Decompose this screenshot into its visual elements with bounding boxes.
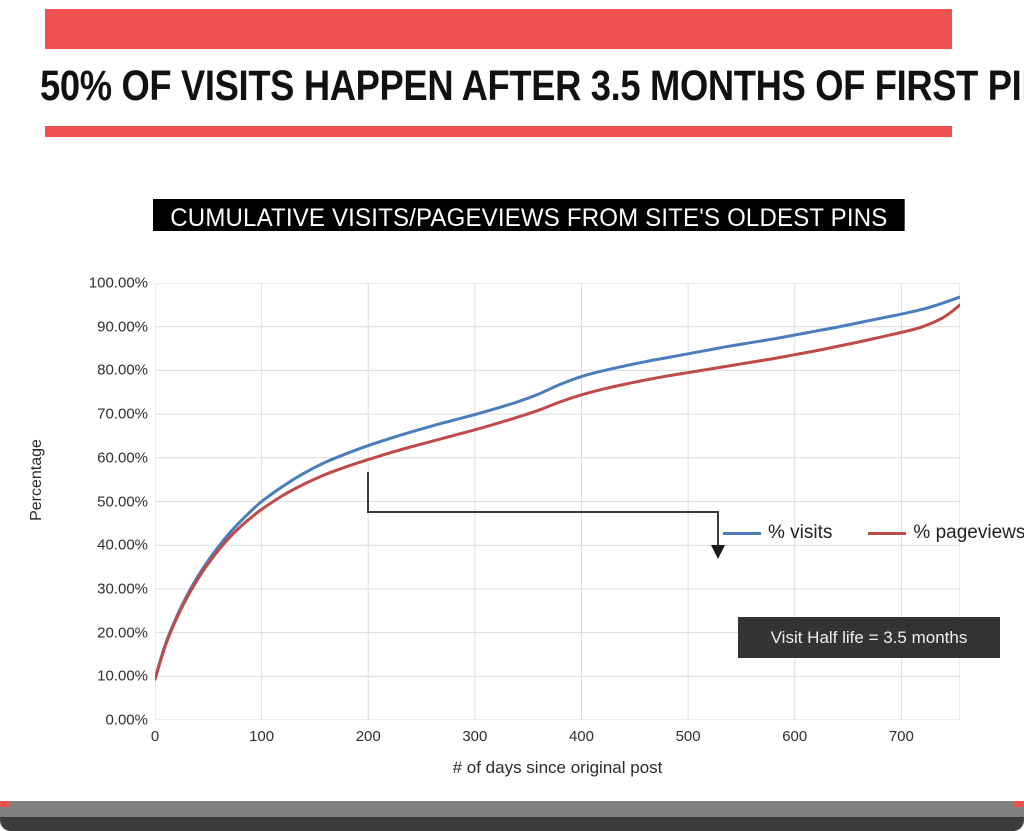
page-corner-accent-right <box>1014 801 1024 807</box>
x-tick-label: 300 <box>462 728 487 745</box>
y-tick-label: 20.00% <box>62 624 148 641</box>
x-tick-label: 400 <box>569 728 594 745</box>
legend-label-visits: % visits <box>768 522 832 544</box>
legend-label-pageviews: % pageviews <box>913 522 1024 544</box>
chart-legend: % visits % pageviews <box>723 522 1024 544</box>
annotation-callout: Visit Half life = 3.5 months <box>738 617 1000 658</box>
page-bottom-shadow <box>0 817 1024 831</box>
y-tick-label: 60.00% <box>62 449 148 466</box>
x-tick-label: 200 <box>356 728 381 745</box>
y-axis-tick-labels: 0.00%10.00%20.00%30.00%40.00%50.00%60.00… <box>60 283 148 720</box>
x-tick-label: 700 <box>889 728 914 745</box>
y-axis-title: Percentage <box>28 410 46 550</box>
slide-canvas: 50% OF VISITS HAPPEN AFTER 3.5 MONTHS OF… <box>0 0 1024 831</box>
page-headline: 50% OF VISITS HAPPEN AFTER 3.5 MONTHS OF… <box>40 58 838 118</box>
annotation-arrow-head <box>711 545 725 559</box>
legend-swatch-visits <box>723 532 761 535</box>
y-tick-label: 70.00% <box>62 406 148 423</box>
legend-item-visits[interactable]: % visits <box>723 522 832 544</box>
x-tick-label: 500 <box>676 728 701 745</box>
x-tick-label: 0 <box>151 728 159 745</box>
y-tick-label: 30.00% <box>62 580 148 597</box>
y-tick-label: 0.00% <box>62 712 148 729</box>
legend-item-pageviews[interactable]: % pageviews <box>868 522 1024 544</box>
plot-area: % visits % pageviews Visit Half life = 3… <box>155 283 960 720</box>
x-tick-label: 100 <box>249 728 274 745</box>
y-tick-label: 40.00% <box>62 537 148 554</box>
x-tick-label: 600 <box>782 728 807 745</box>
x-axis-tick-labels: 0100200300400500600700 <box>155 728 960 752</box>
y-tick-label: 100.00% <box>62 275 148 292</box>
chart-card: Percentage 0.00%10.00%20.00%30.00%40.00%… <box>0 231 1024 801</box>
y-tick-label: 80.00% <box>62 362 148 379</box>
header-accent-bar-bottom <box>45 126 952 137</box>
y-tick-label: 50.00% <box>62 493 148 510</box>
y-tick-label: 10.00% <box>62 668 148 685</box>
legend-swatch-pageviews <box>868 532 906 535</box>
y-tick-label: 90.00% <box>62 318 148 335</box>
header-accent-bar-top <box>45 9 952 49</box>
page-corner-accent-left <box>0 801 10 807</box>
x-axis-title: # of days since original post <box>155 758 960 778</box>
